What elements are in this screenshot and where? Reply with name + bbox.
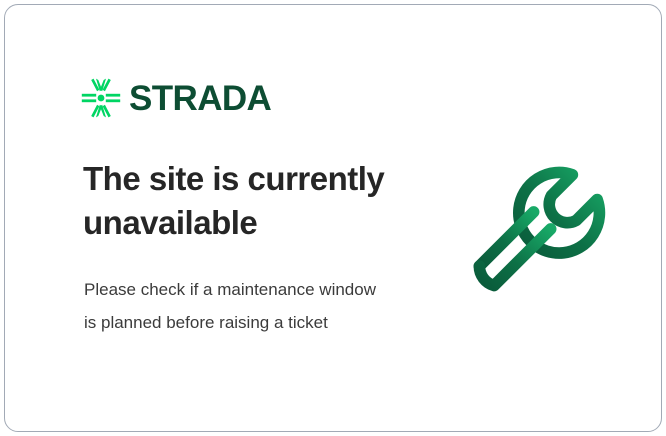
page-root: STRADA The site is currently unavailable… [0,0,666,436]
brand-wordmark: STRADA [129,81,271,116]
status-card: STRADA The site is currently unavailable… [4,4,662,432]
page-title: The site is currently unavailable [83,157,413,245]
brand-lockup: STRADA [81,75,271,121]
strada-starburst-icon [81,78,121,118]
wrench-icon [460,160,615,315]
page-description: Please check if a maintenance window is … [84,273,389,339]
